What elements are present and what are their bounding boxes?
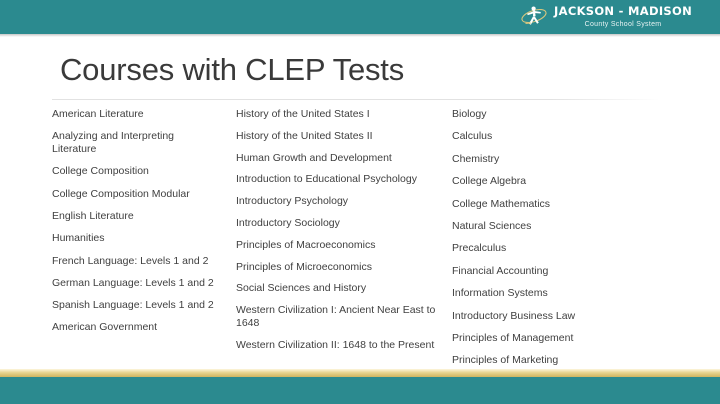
course-item: Humanities — [52, 232, 220, 245]
course-item: Human Growth and Development — [236, 152, 452, 165]
course-item: American Literature — [52, 108, 220, 121]
course-item: Calculus — [452, 130, 720, 143]
logo-text-block: JACKSON - MADISON County School System — [554, 6, 692, 28]
footer-gold-stripe — [0, 369, 720, 377]
course-item: Introductory Psychology — [236, 195, 452, 208]
logo-subtitle: County School System — [585, 21, 662, 28]
slide: JACKSON - MADISON County School System C… — [0, 0, 720, 404]
course-column-2: History of the United States I History o… — [220, 108, 452, 377]
course-item: Western Civilization I: Ancient Near Eas… — [236, 304, 452, 330]
course-item: Introduction to Educational Psychology — [236, 173, 452, 186]
logo-title: JACKSON - MADISON — [554, 6, 692, 18]
course-column-1: American Literature Analyzing and Interp… — [0, 108, 220, 377]
page-title: Courses with CLEP Tests — [60, 52, 404, 88]
course-item: College Mathematics — [452, 198, 720, 211]
course-item: Spanish Language: Levels 1 and 2 — [52, 299, 220, 312]
course-item: Financial Accounting — [452, 265, 720, 278]
title-divider — [52, 99, 660, 100]
course-item: Information Systems — [452, 287, 720, 300]
course-columns: American Literature Analyzing and Interp… — [0, 108, 720, 377]
course-item: Principles of Microeconomics — [236, 261, 452, 274]
district-logo: JACKSON - MADISON County School System — [520, 3, 692, 31]
course-item: Chemistry — [452, 153, 720, 166]
course-item: History of the United States I — [236, 108, 452, 121]
course-item: Principles of Marketing — [452, 354, 720, 367]
course-item: Biology — [452, 108, 720, 121]
course-item: French Language: Levels 1 and 2 — [52, 255, 220, 268]
course-item: Social Sciences and History — [236, 282, 452, 295]
course-item: College Composition Modular — [52, 188, 220, 201]
course-item: Precalculus — [452, 242, 720, 255]
course-item: College Algebra — [452, 175, 720, 188]
course-item: American Government — [52, 321, 220, 334]
course-item: German Language: Levels 1 and 2 — [52, 277, 220, 290]
running-figure-logo-icon — [520, 4, 548, 30]
course-item: Introductory Sociology — [236, 217, 452, 230]
course-item: College Composition — [52, 165, 220, 178]
course-item: Principles of Management — [452, 332, 720, 345]
course-item: Western Civilization II: 1648 to the Pre… — [236, 339, 452, 352]
course-item: Introductory Business Law — [452, 310, 720, 323]
header-shadow — [0, 34, 720, 37]
course-item: History of the United States II — [236, 130, 452, 143]
course-item: Analyzing and Interpreting Literature — [52, 130, 220, 156]
course-item: Natural Sciences — [452, 220, 720, 233]
course-item: Principles of Macroeconomics — [236, 239, 452, 252]
course-column-3: Biology Calculus Chemistry College Algeb… — [452, 108, 720, 377]
course-item: English Literature — [52, 210, 220, 223]
footer-bar — [0, 377, 720, 404]
